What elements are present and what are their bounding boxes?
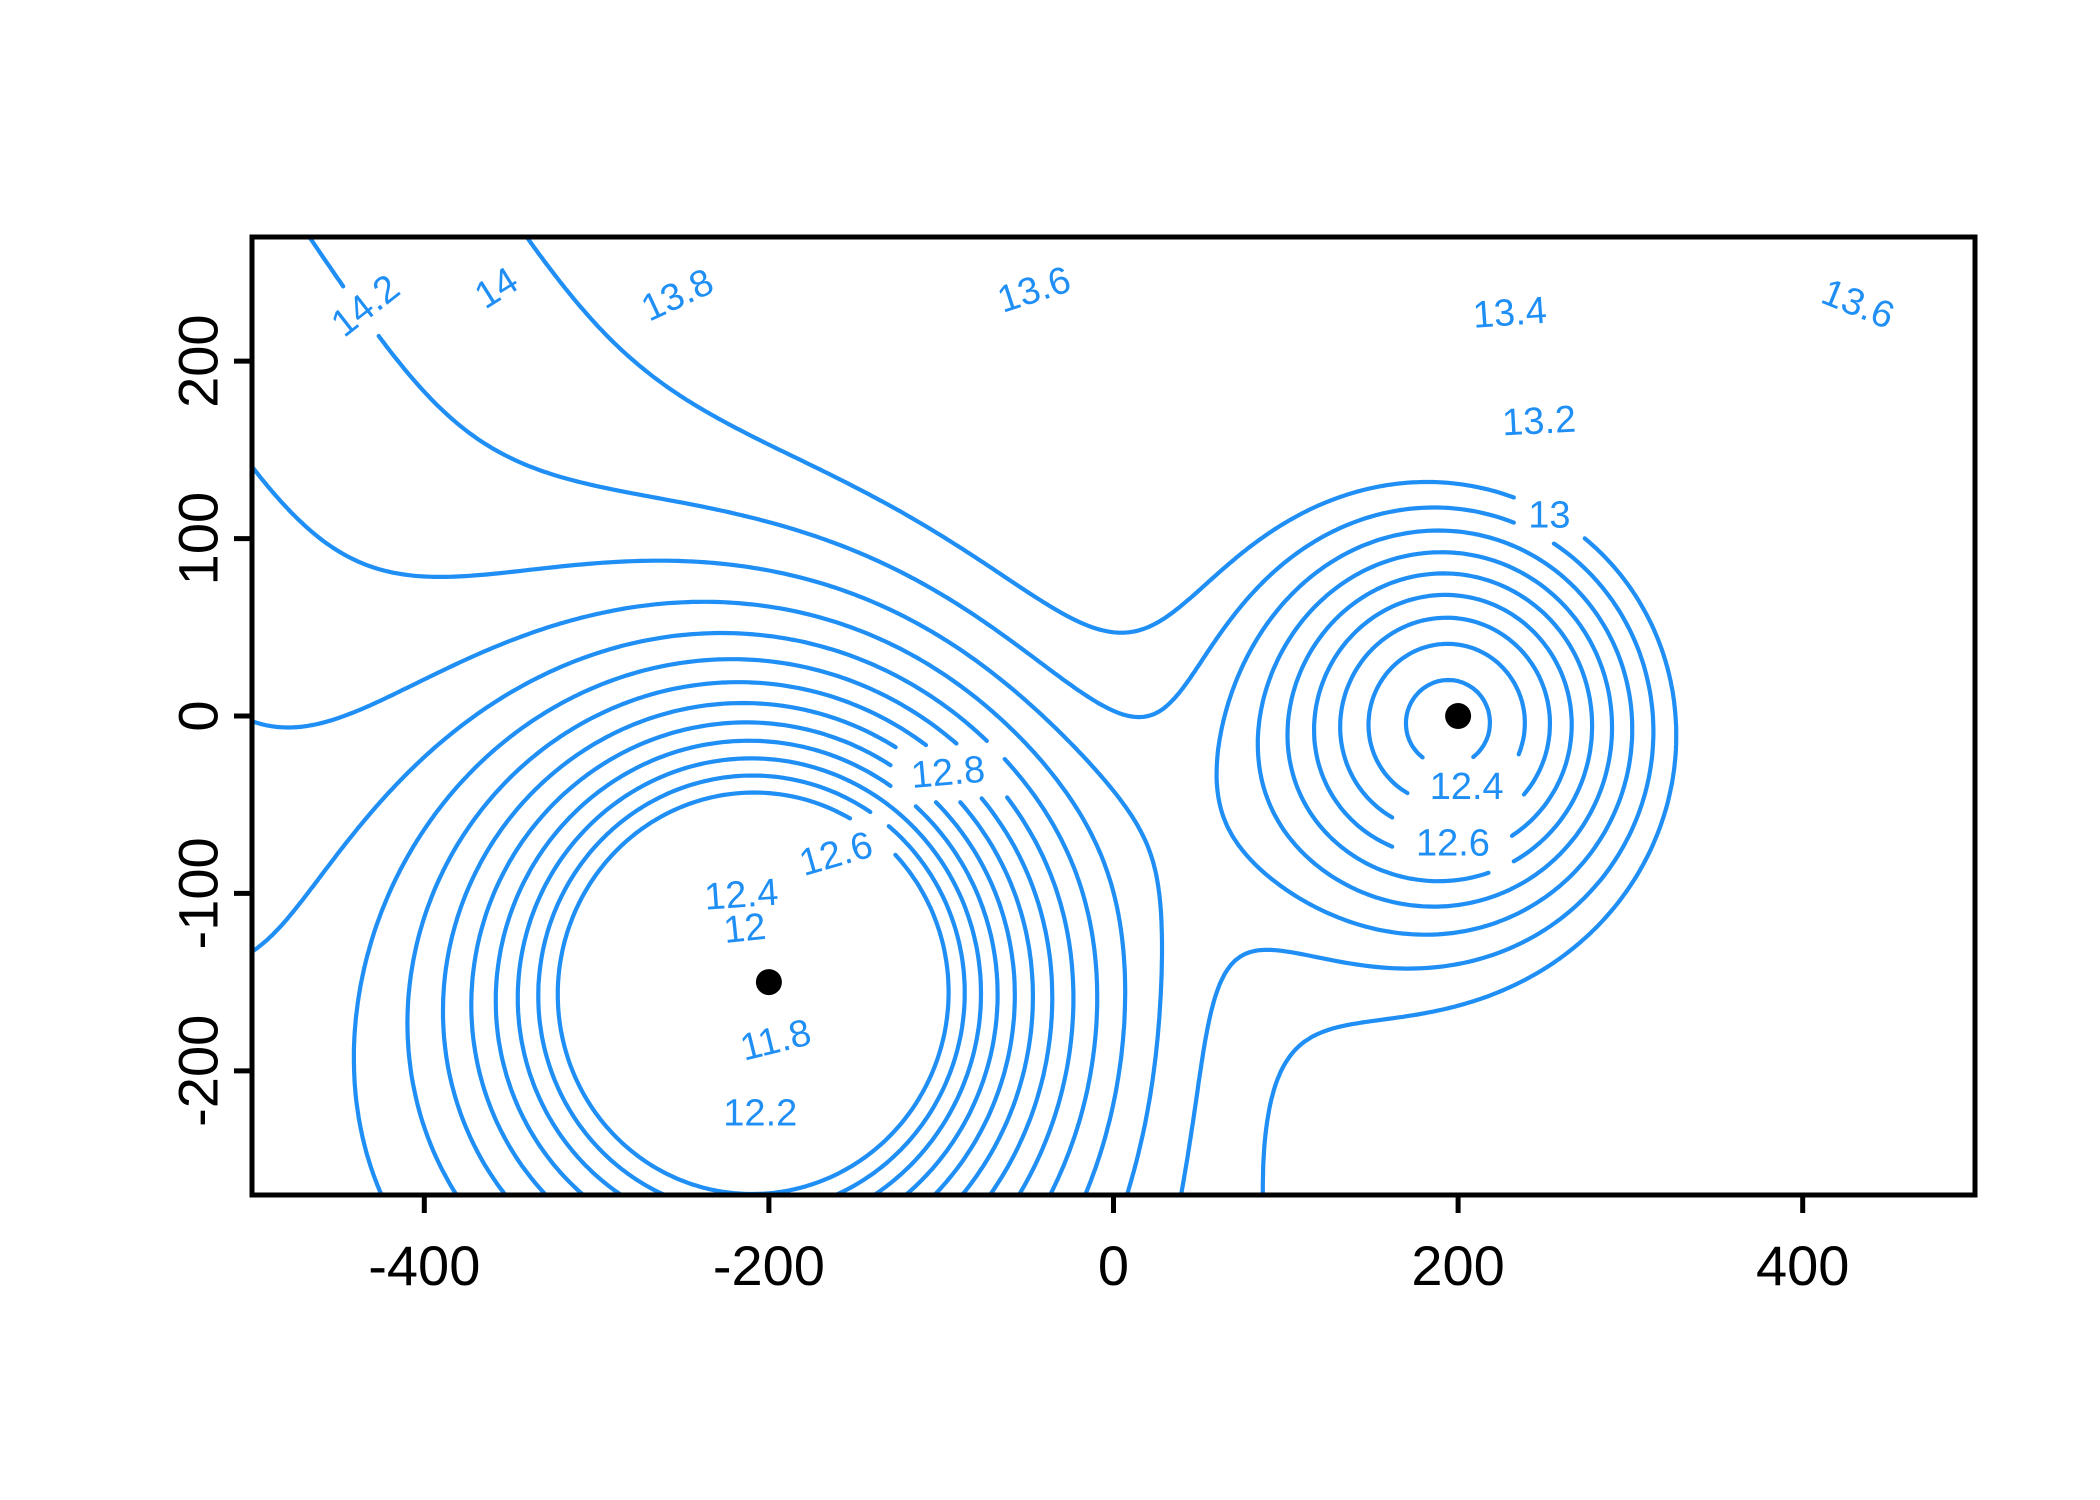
y-axis-tick-label: -100 [167,837,230,949]
x-axis-tick-label: 200 [1411,1234,1504,1297]
x-axis-tick-label: 400 [1756,1234,1849,1297]
contour-label: 12.6 [1416,823,1490,865]
contour-label: 12.4 [703,872,780,919]
contour-plot-figure: 11.81212.212.412.612.812.412.61313.213.4… [0,0,2100,1500]
contour-label: 12.2 [723,1092,797,1134]
y-axis-tick-label: 0 [167,700,230,731]
contour-label: 13 [1528,495,1570,537]
x-axis-tick-label: -200 [713,1234,825,1297]
contour-label: 13.4 [1471,290,1548,337]
y-axis-tick-label: 200 [166,314,229,407]
y-axis-tick-label: 100 [166,492,229,585]
contour-plot-canvas: 11.81212.212.412.612.812.412.61313.213.4… [0,0,2100,1500]
x-axis-tick-label: 0 [1098,1234,1129,1297]
x-axis-tick-label: -400 [368,1234,480,1297]
minimum-marker-2 [1445,703,1471,729]
contour-label: 12.8 [909,749,986,797]
contour-label: 13.2 [1501,399,1577,445]
minimum-marker-1 [756,969,782,995]
contour-label: 12.4 [1430,766,1504,808]
y-axis-tick-label: -200 [167,1015,230,1127]
